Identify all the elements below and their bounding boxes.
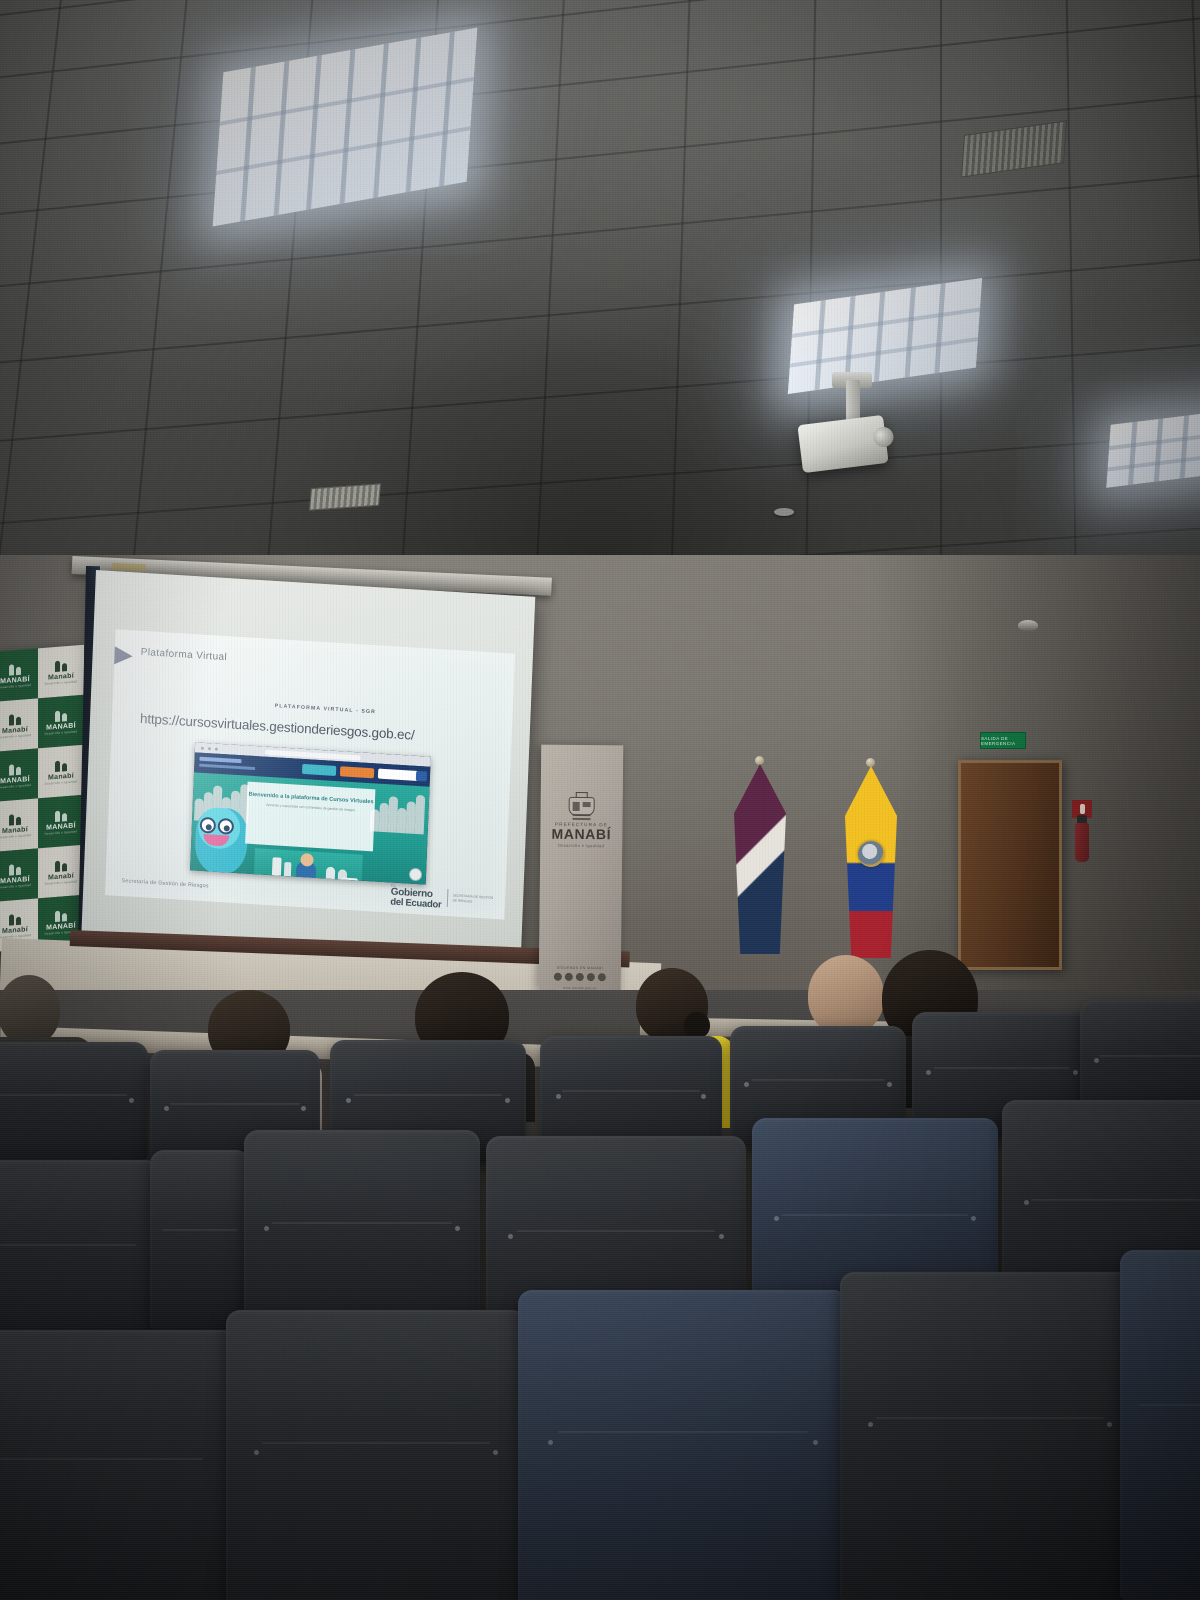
mascot-icon (194, 807, 249, 876)
facebook-icon (554, 973, 562, 981)
slide-kicker: PLATAFORMA VIRTUAL - SGR (275, 703, 376, 715)
gobierno-ecuador-logo: EL Gobierno del Ecuador SECRETARÍA DE GE… (390, 883, 493, 913)
seat-row1-5[interactable] (1120, 1250, 1200, 1600)
browser-screenshot: Bienvenido a la plataforma de Cursos Vir… (190, 742, 431, 884)
manabi-glyph-icon (8, 912, 22, 925)
tiktok-icon (598, 973, 606, 981)
instagram-icon (565, 973, 573, 981)
browser-dot-2 (208, 747, 211, 750)
attendee-hair-bun (684, 1012, 710, 1038)
manabi-glyph-icon (8, 762, 22, 775)
attendee-head (0, 975, 60, 1045)
seat-row1-3[interactable] (518, 1290, 848, 1600)
crowd-right (370, 785, 428, 834)
manabi-glyph-icon (54, 909, 68, 922)
fire-extinguisher-icon (1080, 804, 1085, 814)
manabi-glyph-icon (8, 662, 22, 675)
seat-row3-1[interactable] (0, 1042, 148, 1160)
slide-url: https://cursosvirtuales.gestionderiesgos… (140, 711, 415, 743)
seat-row1-4[interactable] (840, 1272, 1140, 1600)
hero-card: Bienvenido a la plataforma de Cursos Vir… (245, 782, 375, 852)
flagpole-knob-2 (866, 758, 875, 767)
youtube-icon (587, 973, 595, 981)
manabi-glyph-icon (8, 712, 22, 725)
exit-sign-label: SALIDA DE EMERGENCIA (981, 736, 1025, 746)
manabi-glyph-icon (8, 862, 22, 875)
ceiling-shading (0, 0, 1200, 600)
brandwall-tile: Manabí Desarrollo e Igualdad (38, 745, 84, 799)
brandwall-tile: MANABÍ Desarrollo e Igualdad (38, 695, 84, 749)
slide-title: Plataforma Virtual (141, 647, 228, 663)
logo-divider (446, 889, 448, 907)
manabi-crest-icon (569, 797, 595, 816)
slide-arrow-icon (112, 645, 133, 666)
banner-tagline: Desarrollo e Igualdad (558, 843, 604, 848)
attendee-head (808, 955, 884, 1035)
manabi-glyph-icon (8, 812, 22, 825)
seat-row2-3[interactable] (244, 1130, 480, 1340)
manabi-glyph-icon (54, 709, 68, 722)
fire-extinguisher (1075, 822, 1089, 862)
brandwall-tile: Manabí Desarrollo e Igualdad (0, 698, 38, 752)
brandwall-tile: Manabí Desarrollo e Igualdad (38, 845, 84, 899)
smoke-detector-icon (774, 508, 794, 516)
brandwall-tile: MANABÍ Desarrollo e Igualdad (38, 795, 84, 849)
register-button (302, 764, 336, 776)
slide-footer: Secretaría de Gestión de Riesgos (121, 878, 208, 889)
brandwall-tile: Manabí Desarrollo e Igualdad (38, 645, 84, 699)
exit-door[interactable] (958, 760, 1062, 970)
presentation-slide: Plataforma Virtual PLATAFORMA VIRTUAL - … (105, 629, 515, 919)
seat-row2-1[interactable] (0, 1160, 160, 1350)
ceiling (0, 0, 1200, 600)
auditorium-scene: MANABÍ Desarrollo e Igualdad Manabí Desa… (0, 0, 1200, 1600)
manabi-glyph-icon (54, 659, 68, 672)
site-logo-subtitle (199, 764, 255, 770)
emergency-exit-sign: SALIDA DE EMERGENCIA (980, 732, 1026, 749)
site-search-input (378, 769, 418, 781)
manabi-glyph-icon (54, 809, 68, 822)
rollup-banner: PREFECTURA DE MANABÍ Desarrollo e Iguald… (539, 745, 624, 991)
brandwall-tile: MANABÍ Desarrollo e Igualdad (0, 848, 38, 902)
screen-brand-tag (112, 563, 146, 572)
login-button (340, 766, 374, 778)
search-icon (416, 771, 427, 782)
manabi-glyph-icon (54, 859, 68, 872)
manabi-branded-wall: MANABÍ Desarrollo e Igualdad Manabí Desa… (0, 645, 84, 952)
banner-social-icons (554, 973, 606, 982)
hero-illustration (253, 848, 363, 884)
brandwall-tile: MANABÍ Desarrollo e Igualdad (0, 748, 38, 802)
banner-name: MANABÍ (551, 827, 611, 842)
browser-dot-3 (215, 747, 218, 750)
brandwall-tile: MANABÍ Desarrollo e Igualdad (0, 648, 38, 702)
site-logo-icon (199, 757, 241, 764)
security-camera-icon (1018, 620, 1038, 631)
browser-dot-1 (201, 746, 204, 749)
projection-screen: Plataforma Virtual PLATAFORMA VIRTUAL - … (81, 570, 535, 967)
site-badge-icon (409, 868, 423, 882)
banner-social-label: SÍGUENOS EN MANABÍ (557, 966, 604, 970)
flagpole-knob-1 (755, 756, 764, 765)
seat-row1-1[interactable] (0, 1330, 240, 1600)
ecuador-coat-of-arms-icon (858, 841, 884, 867)
brandwall-tile: Manabí Desarrollo e Igualdad (0, 798, 38, 852)
seat-row2-2[interactable] (150, 1150, 250, 1330)
seat-row1-2[interactable] (226, 1310, 526, 1600)
manabi-glyph-icon (54, 759, 68, 772)
twitter-icon (576, 973, 584, 981)
site-hero: Bienvenido a la plataforma de Cursos Vir… (190, 772, 430, 884)
logo-line-3: del Ecuador (390, 897, 441, 910)
